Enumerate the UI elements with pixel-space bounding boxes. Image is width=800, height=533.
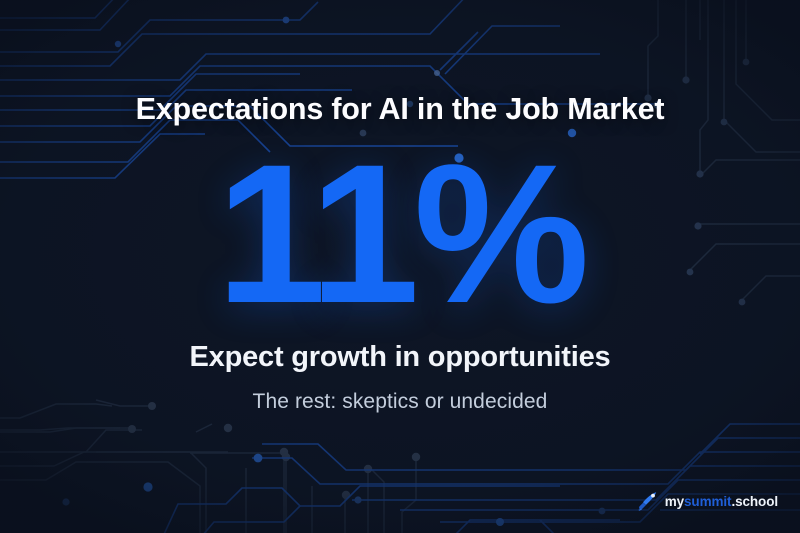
logo-text-summit: summit (684, 494, 731, 509)
logo-text-my: my (665, 494, 684, 509)
logo-wordmark: mysummit.school (665, 494, 778, 509)
stat-caption: The rest: skeptics or undecided (253, 390, 548, 414)
page-title: Expectations for AI in the Job Market (136, 92, 665, 127)
rocket-swoosh-icon (637, 491, 659, 511)
brand-logo: mysummit.school (637, 491, 778, 511)
stat-label: Expect growth in opportunities (190, 341, 611, 374)
content-stack: Expectations for AI in the Job Market 11… (0, 0, 800, 533)
stat-value: 11% (216, 133, 583, 335)
infographic-canvas: Expectations for AI in the Job Market 11… (0, 0, 800, 533)
logo-text-school: .school (731, 494, 778, 509)
